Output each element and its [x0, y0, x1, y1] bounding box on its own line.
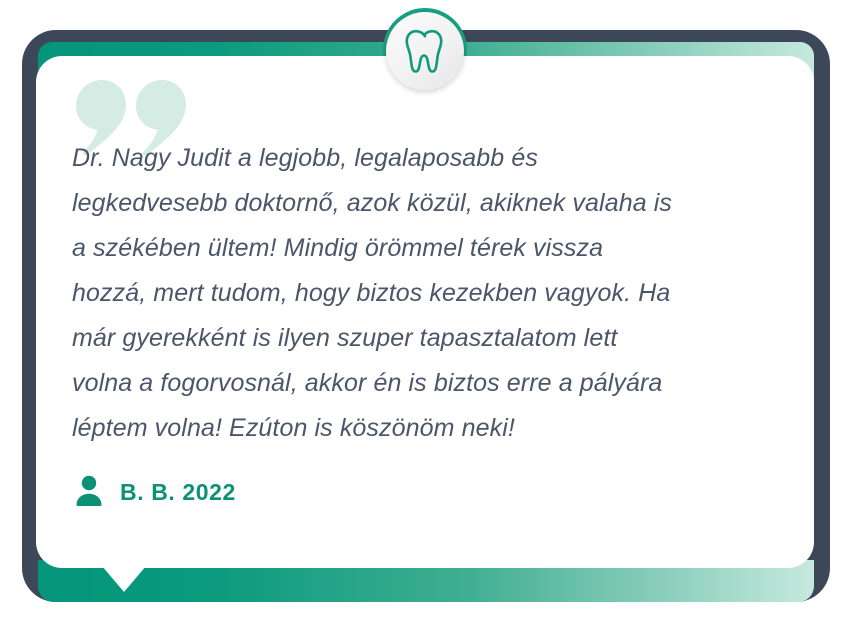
testimonial-card-stage: Dr. Nagy Judit a legjobb, legalaposabb é… [0, 0, 850, 620]
testimonial-quote-text: Dr. Nagy Judit a legjobb, legalaposabb é… [72, 136, 772, 451]
quote-line: léptem volna! Ezúton is köszönöm neki! [72, 406, 772, 451]
quote-line: a székében ültem! Mindig örömmel térek v… [72, 226, 772, 271]
testimonial-attribution: B. B. 2022 [74, 474, 236, 511]
quote-line: volna a fogorvosnál, akkor én is biztos … [72, 361, 772, 406]
speech-bubble-tail [102, 566, 146, 592]
quote-line: Dr. Nagy Judit a legjobb, legalaposabb é… [72, 136, 772, 181]
tooth-icon [404, 28, 446, 74]
quote-line: már gyerekként is ilyen szuper tapasztal… [72, 316, 772, 361]
person-icon [74, 474, 104, 511]
quote-line: hozzá, mert tudom, hogy biztos kezekben … [72, 271, 772, 316]
tooth-badge [386, 12, 464, 90]
quote-line: legkedvesebb doktornő, azok közül, akikn… [72, 181, 772, 226]
attribution-name: B. B. 2022 [120, 479, 236, 506]
